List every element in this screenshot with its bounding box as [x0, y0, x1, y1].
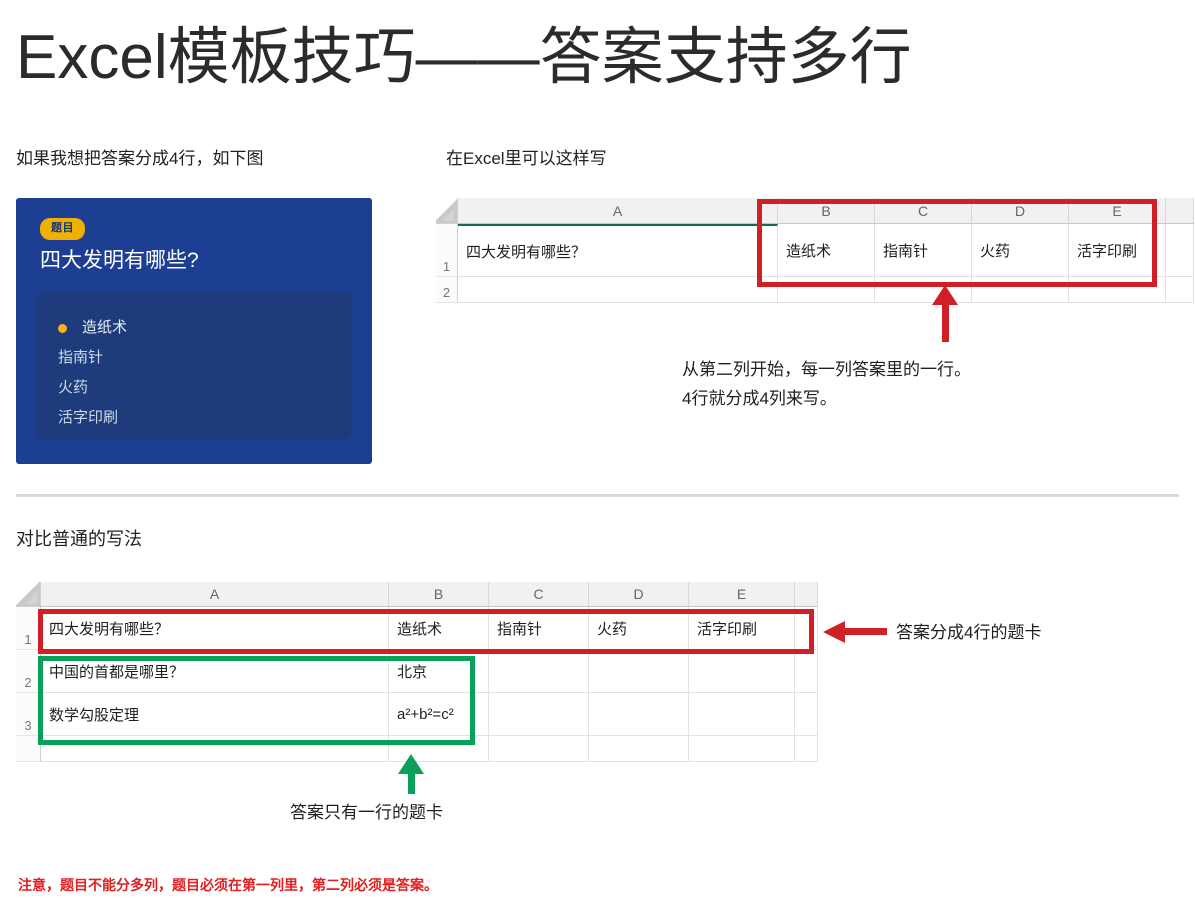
excel-grid-bottom: A B C D E 1 四大发明有哪些？ 造纸术 指南针 火药 活字印刷 2 中… [16, 582, 818, 762]
cell-a2[interactable] [458, 277, 778, 303]
arrow-up-red-icon [932, 285, 958, 305]
cell-f2[interactable] [1166, 277, 1194, 303]
cell-f1[interactable] [795, 607, 818, 650]
cell-e4[interactable] [689, 736, 795, 762]
cell-c4[interactable] [489, 736, 589, 762]
annotation-red-label: 答案分成4行的题卡 [896, 618, 1041, 647]
column-header-a[interactable]: A [41, 582, 389, 607]
column-header-d[interactable]: D [589, 582, 689, 607]
cell-c1[interactable]: 指南针 [489, 607, 589, 650]
annotation-top: 从第二列开始，每一列答案里的一行。 4行就分成4列来写。 [682, 355, 971, 413]
cell-a1[interactable]: 四大发明有哪些？ [41, 607, 389, 650]
cell-b2[interactable]: 北京 [389, 650, 489, 693]
arrow-left-red-icon [823, 621, 845, 643]
caption-left-section: 如果我想把答案分成4行，如下图 [16, 148, 263, 170]
answer-line-1: 造纸术 [82, 318, 127, 338]
row-header-1[interactable]: 1 [16, 607, 41, 650]
cell-e1[interactable]: 活字印刷 [1069, 224, 1166, 277]
column-header-f[interactable] [795, 582, 818, 607]
cell-d4[interactable] [589, 736, 689, 762]
cell-b1[interactable]: 造纸术 [778, 224, 875, 277]
page-title: Excel模板技巧——答案支持多行 [16, 18, 912, 98]
cell-d2[interactable] [589, 650, 689, 693]
section-divider [16, 494, 1179, 497]
select-all-corner-icon[interactable] [16, 582, 41, 607]
caption-right-section: 在Excel里可以这样写 [446, 148, 607, 170]
table-row: 3 数学勾股定理 a²+b²=c² [16, 693, 818, 736]
column-header-row: A B C D E [16, 582, 818, 607]
cell-d1[interactable]: 火药 [589, 607, 689, 650]
question-card: 题目 四大发明有哪些? 造纸术 指南针 火药 活字印刷 [16, 198, 372, 464]
bullet-dot-icon [58, 324, 67, 333]
cell-a4[interactable] [41, 736, 389, 762]
column-header-e[interactable]: E [1069, 198, 1166, 224]
cell-a3[interactable]: 数学勾股定理 [41, 693, 389, 736]
row-header-1[interactable]: 1 [436, 224, 458, 277]
cell-b2[interactable] [778, 277, 875, 303]
cell-c1[interactable]: 指南针 [875, 224, 972, 277]
arrow-left-red-shaft [843, 628, 887, 635]
question-badge: 题目 [40, 218, 85, 240]
warning-note: 注意，题目不能分多列，题目必须在第一列里，第二列必须是答案。 [18, 875, 438, 895]
cell-d1[interactable]: 火药 [972, 224, 1069, 277]
answer-panel: 造纸术 指南针 火药 活字印刷 [36, 292, 352, 440]
select-all-corner-icon[interactable] [436, 198, 458, 224]
cell-f2[interactable] [795, 650, 818, 693]
answer-line-4: 活字印刷 [58, 408, 118, 428]
column-header-b[interactable]: B [778, 198, 875, 224]
cell-d2[interactable] [972, 277, 1069, 303]
cell-e2[interactable] [689, 650, 795, 693]
annotation-green-label: 答案只有一行的题卡 [290, 798, 443, 827]
cell-a1[interactable]: 四大发明有哪些？ [458, 224, 778, 277]
cell-b3[interactable]: a²+b²=c² [389, 693, 489, 736]
caption-compare-section: 对比普通的写法 [16, 528, 142, 550]
answer-line-3: 火药 [58, 378, 88, 398]
column-header-c[interactable]: C [489, 582, 589, 607]
column-header-a[interactable]: A [458, 198, 778, 224]
row-header-2[interactable]: 2 [436, 277, 458, 303]
column-header-d[interactable]: D [972, 198, 1069, 224]
cell-e3[interactable] [689, 693, 795, 736]
column-header-c[interactable]: C [875, 198, 972, 224]
cell-a2[interactable]: 中国的首都是哪里？ [41, 650, 389, 693]
cell-d3[interactable] [589, 693, 689, 736]
cell-e1[interactable]: 活字印刷 [689, 607, 795, 650]
cell-b1[interactable]: 造纸术 [389, 607, 489, 650]
arrow-up-red-shaft [942, 300, 949, 342]
table-row: 2 [436, 277, 1194, 303]
slide-canvas: Excel模板技巧——答案支持多行 如果我想把答案分成4行，如下图 在Excel… [0, 0, 1195, 921]
cell-f4[interactable] [795, 736, 818, 762]
table-row: 1 四大发明有哪些？ 造纸术 指南针 火药 活字印刷 [16, 607, 818, 650]
cell-f1[interactable] [1166, 224, 1194, 277]
row-header-3[interactable]: 3 [16, 693, 41, 736]
question-text: 四大发明有哪些? [40, 246, 199, 276]
cell-f3[interactable] [795, 693, 818, 736]
column-header-row: A B C D E [436, 198, 1194, 224]
excel-grid-top: A B C D E 1 四大发明有哪些？ 造纸术 指南针 火药 活字印刷 2 [436, 198, 1194, 303]
column-header-f[interactable] [1166, 198, 1194, 224]
row-header-2[interactable]: 2 [16, 650, 41, 693]
table-row: 1 四大发明有哪些？ 造纸术 指南针 火药 活字印刷 [436, 224, 1194, 277]
arrow-up-green-icon [398, 754, 424, 774]
cell-e2[interactable] [1069, 277, 1166, 303]
answer-line-2: 指南针 [58, 348, 103, 368]
table-row: 2 中国的首都是哪里？ 北京 [16, 650, 818, 693]
cell-c3[interactable] [489, 693, 589, 736]
row-header-4[interactable] [16, 736, 41, 762]
cell-c2[interactable] [489, 650, 589, 693]
column-header-e[interactable]: E [689, 582, 795, 607]
column-header-b[interactable]: B [389, 582, 489, 607]
